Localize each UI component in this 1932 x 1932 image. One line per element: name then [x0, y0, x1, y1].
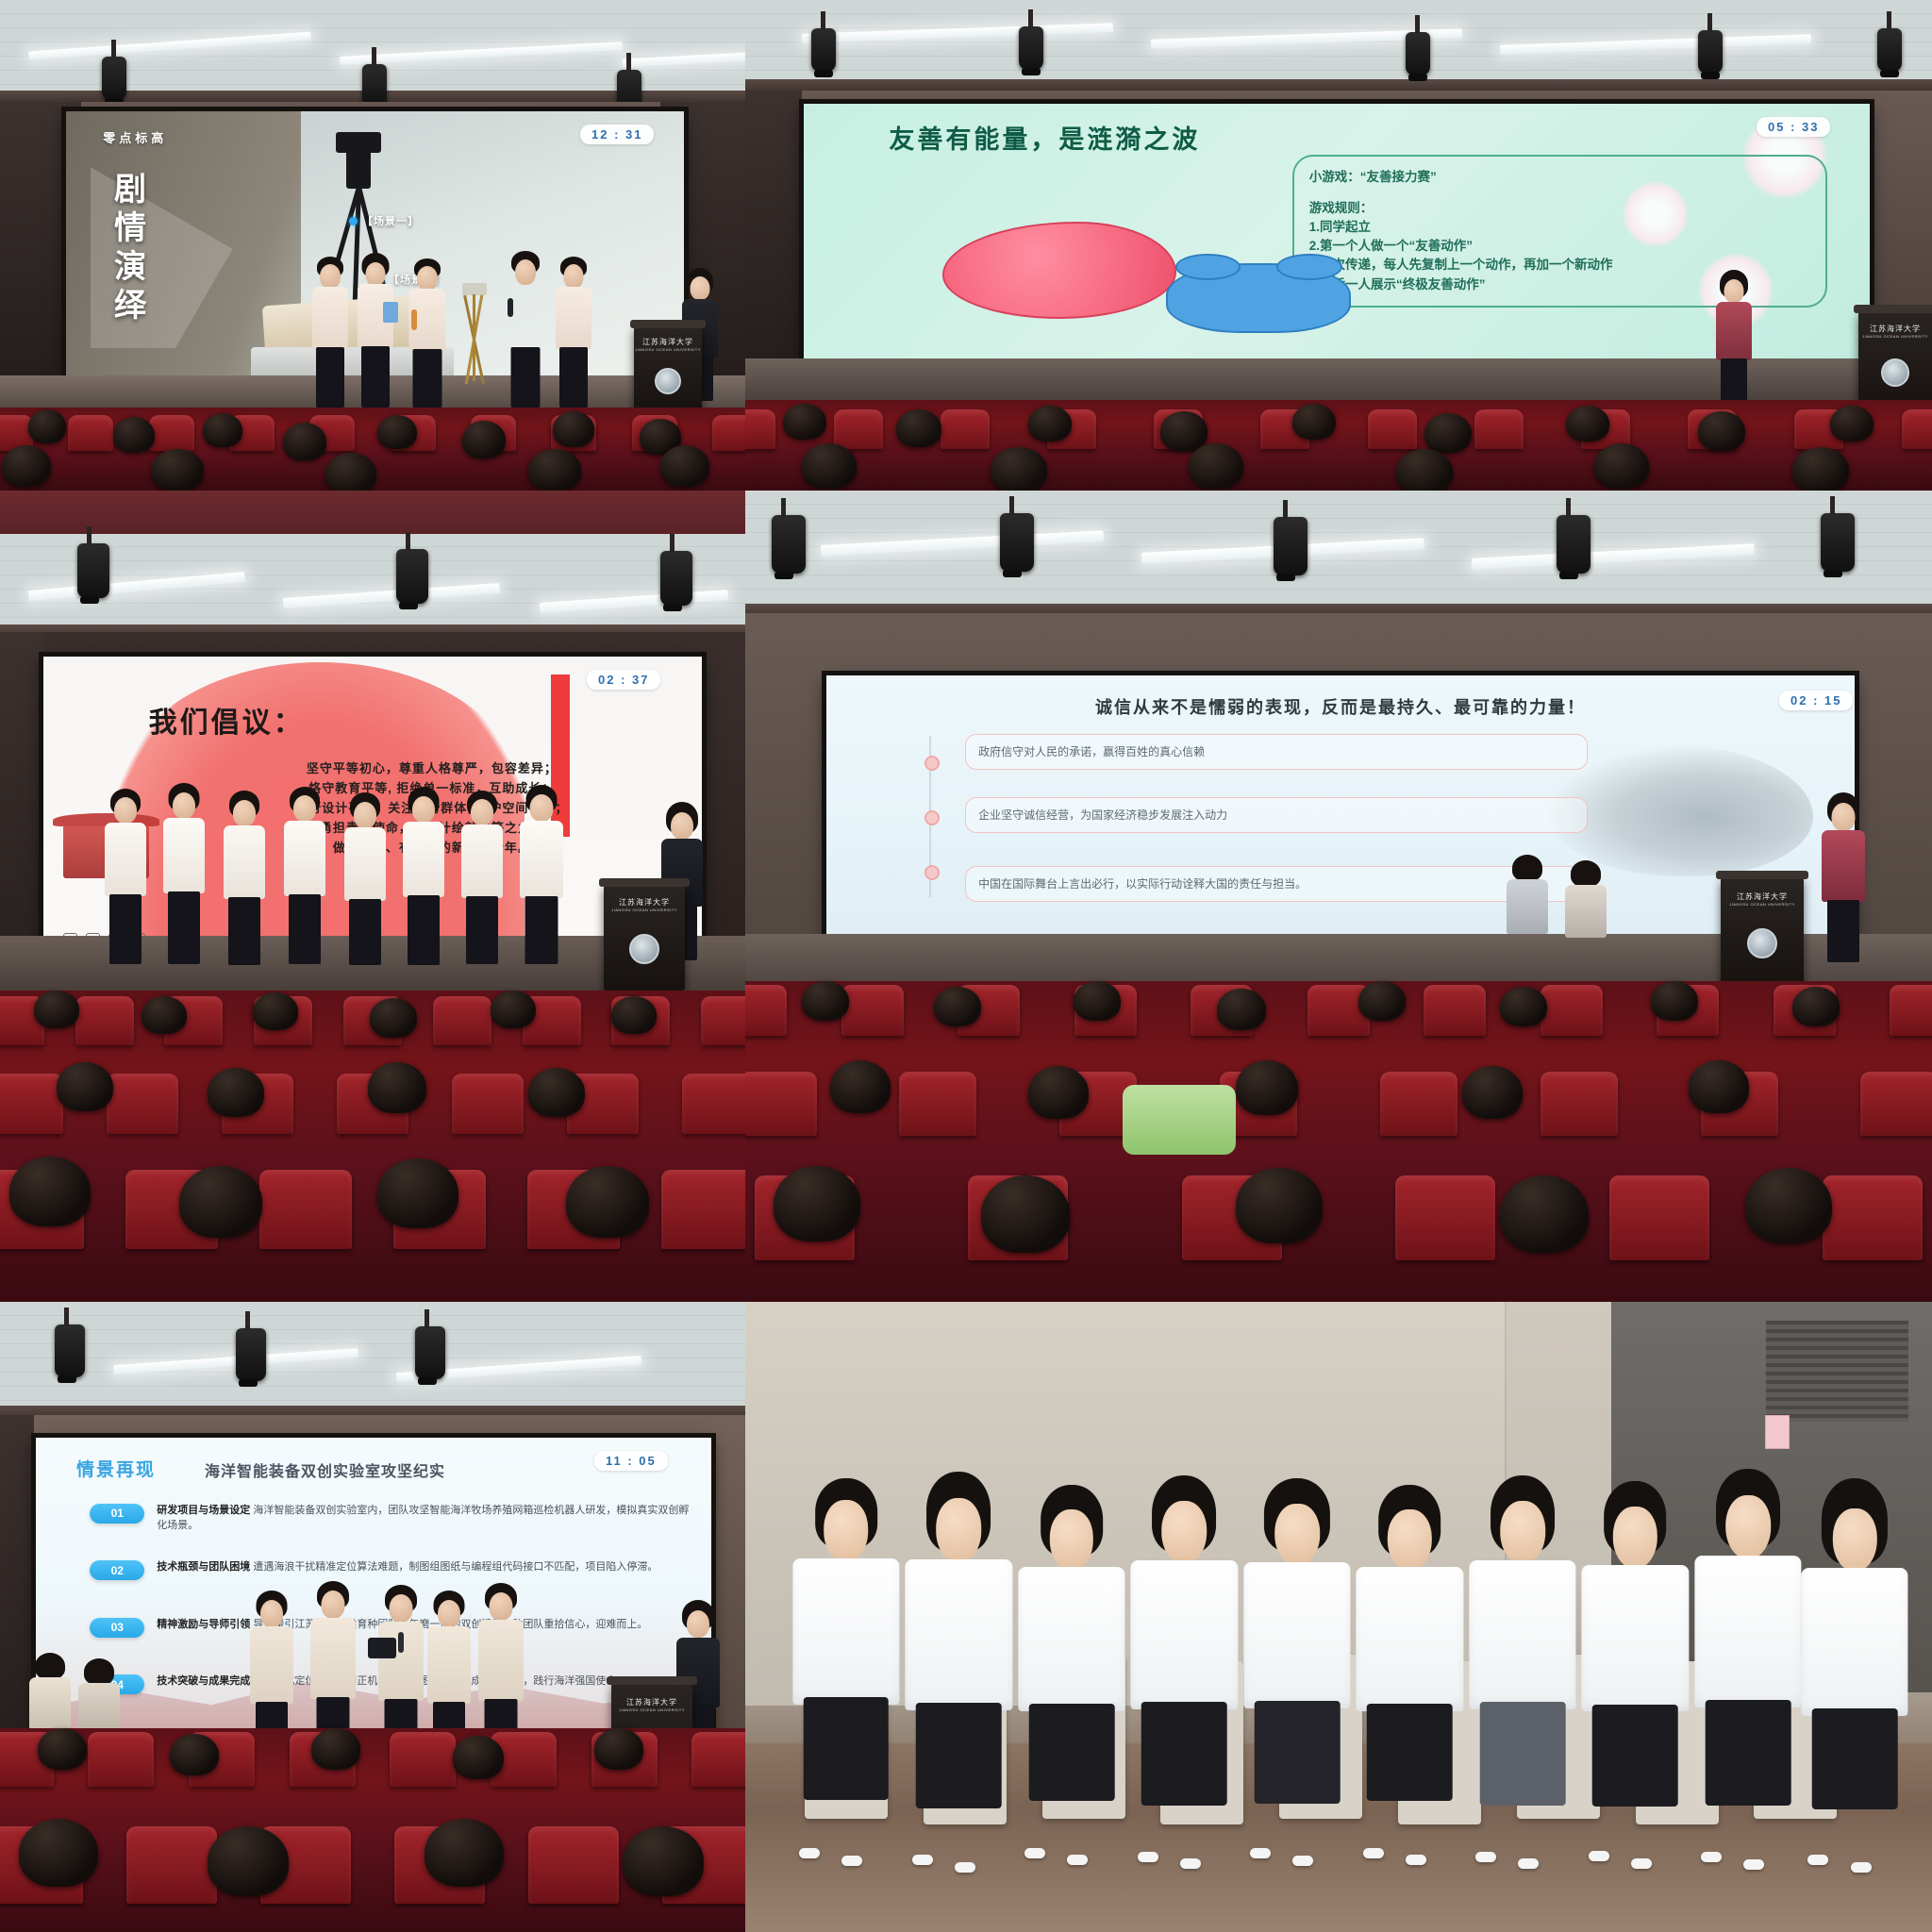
- host-blazer: [1716, 302, 1752, 360]
- contestant-face: [1388, 1509, 1431, 1571]
- audience-head: [934, 987, 981, 1026]
- contestant-shirt: [1802, 1568, 1908, 1717]
- performer-legs: [511, 347, 541, 408]
- contestant-pants: [1367, 1704, 1453, 1801]
- contestant-shirt: [1243, 1562, 1350, 1708]
- audience-head: [253, 992, 298, 1030]
- audience-head: [830, 1060, 891, 1113]
- contestant-pants: [1029, 1704, 1115, 1801]
- stage-spotlight: [1406, 32, 1430, 75]
- audience-head: [2, 445, 51, 487]
- performer-top: [250, 1626, 293, 1704]
- contestant-shirt: [1357, 1567, 1463, 1710]
- performer: [408, 258, 447, 408]
- seated-contestant: [906, 1472, 1012, 1850]
- contestant-pants: [1812, 1708, 1898, 1808]
- item-heading: 精神激励与导师引领: [157, 1619, 250, 1630]
- audience-seat: [126, 1826, 217, 1904]
- audience-seat: [1609, 1175, 1709, 1260]
- integrity-card: 政府信守对人民的承诺，赢得百姓的真心信赖: [965, 734, 1587, 770]
- contestant-shoe: [1363, 1848, 1384, 1858]
- photo-collage: 零点标高 剧情演绎 【场景一】 【场景二】 【场景三】: [0, 0, 1932, 1932]
- wall-sign: [1765, 1415, 1790, 1449]
- performer-top: [427, 1626, 471, 1704]
- audience-head: [896, 409, 941, 447]
- slide-title-main: 海洋智能装备双创实验室攻坚纪实: [205, 1458, 445, 1481]
- performer: [519, 785, 564, 964]
- contestant-shoe: [1589, 1851, 1609, 1861]
- contestant-shirt: [1131, 1560, 1238, 1709]
- audience-seat: [528, 1826, 619, 1904]
- host-presenter: [1715, 270, 1753, 404]
- audience-seat: [107, 1074, 178, 1134]
- slide-title: 我们倡议：: [149, 699, 305, 741]
- scene-item: 02 技术瓶颈与团队困境 遭遇海浪干扰精准定位算法难题，制图组图纸与编程组代码接…: [90, 1560, 691, 1580]
- contestant-face: [1050, 1509, 1093, 1571]
- performer-head: [412, 796, 435, 823]
- proposal-line: 坚守平等初心，尊重人格尊严，包容差异；: [189, 758, 676, 778]
- seated-attendee: [1506, 855, 1549, 979]
- performer-head: [564, 264, 584, 289]
- audience-seat: [899, 1072, 976, 1136]
- podium-top-ledge: [630, 320, 707, 328]
- countdown-timer: 02 : 15: [1779, 691, 1853, 710]
- bear-illustration: [1166, 263, 1351, 334]
- performer-head: [490, 1592, 513, 1621]
- integrity-card: 中国在国际舞台上言出必行，以实际行动诠释大国的责任与担当。: [965, 866, 1587, 902]
- script-folder: [383, 302, 398, 323]
- university-emblem-icon: [629, 934, 659, 964]
- attendee-top: [78, 1683, 120, 1734]
- rule-item: 2.第一个人做一个“友善动作”: [1309, 237, 1810, 256]
- stage-spotlight: [1821, 513, 1855, 572]
- contestant-shoe: [1138, 1852, 1158, 1862]
- performer: [283, 787, 326, 964]
- audience-head: [1792, 447, 1849, 491]
- countdown-timer: 02 : 37: [587, 670, 660, 690]
- performer: [555, 257, 592, 408]
- audience-area: [0, 991, 745, 1302]
- audience-area: [0, 1728, 745, 1932]
- slide-vertical-title: 剧情演绎: [109, 172, 143, 326]
- audience-head: [34, 991, 79, 1028]
- performer-legs: [466, 896, 498, 964]
- podium-top-ledge: [607, 1676, 697, 1685]
- podium: 江苏海洋大学 JIANGSU OCEAN UNIVERSITY: [1721, 877, 1804, 987]
- seated-contestant: [1582, 1481, 1689, 1846]
- audience-head: [611, 996, 657, 1034]
- item-number-badge: 03: [90, 1618, 144, 1638]
- audience-head: [9, 1157, 91, 1226]
- contestant-pants: [1706, 1700, 1791, 1806]
- audience-head: [1292, 404, 1336, 440]
- contestant-shirt: [1582, 1565, 1689, 1711]
- audience-seat: [691, 1732, 745, 1787]
- audience-head: [113, 417, 155, 453]
- contestant-face: [937, 1498, 982, 1562]
- rules-header: 游戏规则：: [1309, 199, 1810, 218]
- performer-shirt: [344, 827, 386, 901]
- contestant-shoe: [1851, 1862, 1872, 1873]
- audience-head: [1500, 987, 1547, 1026]
- panel-seated-contestants: [745, 1302, 1932, 1932]
- audience-head: [370, 998, 417, 1038]
- item-number-badge: 01: [90, 1504, 144, 1524]
- contestant-shirt: [1694, 1556, 1801, 1707]
- performer-legs: [316, 347, 344, 408]
- contestant-shoe: [1475, 1852, 1496, 1862]
- performer-legs: [228, 897, 260, 965]
- audience-seat: [452, 1074, 524, 1134]
- performer: [402, 787, 445, 964]
- seated-contestant: [1243, 1478, 1350, 1843]
- audience-head: [1689, 1060, 1749, 1113]
- podium-university-name: 江苏海洋大学 JIANGSU OCEAN UNIVERSITY: [611, 898, 677, 912]
- audience-head: [1074, 981, 1121, 1021]
- laptop-prop: [368, 1638, 396, 1658]
- stage-spotlight: [772, 515, 806, 574]
- performer: [343, 792, 387, 964]
- item-text: 技术瓶颈与团队困境 遭遇海浪干扰精准定位算法难题，制图组图纸与编程组代码接口不匹…: [157, 1560, 658, 1575]
- performer-shirt: [224, 825, 265, 899]
- audience-head: [1217, 989, 1266, 1030]
- performer-head: [322, 1591, 345, 1619]
- audience-head: [594, 1728, 643, 1770]
- audience-seat: [1541, 1072, 1618, 1136]
- audience-head: [311, 1728, 360, 1770]
- audience-seat: [701, 996, 745, 1045]
- audience-seat: [390, 1732, 456, 1787]
- performer-legs: [413, 349, 442, 408]
- contestant-face: [1162, 1501, 1207, 1564]
- podium-university-name: 江苏海洋大学 JIANGSU OCEAN UNIVERSITY: [1862, 325, 1928, 339]
- contestant-shoe: [1631, 1858, 1652, 1869]
- performer-legs: [168, 891, 200, 964]
- performer-head: [530, 794, 554, 822]
- audience-head: [1189, 443, 1243, 489]
- audience-head: [179, 1166, 262, 1238]
- audience-seat: [745, 1072, 817, 1136]
- audience-seat: [259, 1170, 352, 1249]
- contestant-shoe: [1292, 1856, 1313, 1866]
- slide-badge: 零点标高: [103, 128, 167, 146]
- podium-university-name: 江苏海洋大学 JIANGSU OCEAN UNIVERSITY: [619, 1698, 685, 1712]
- performer-head: [114, 797, 137, 824]
- podium: 江苏海洋大学 JIANGSU OCEAN UNIVERSITY: [634, 326, 702, 413]
- audience-head: [981, 1175, 1070, 1253]
- audience-head: [623, 1826, 704, 1896]
- attendee-hair: [1571, 860, 1601, 887]
- audience-head: [1594, 443, 1649, 489]
- slide-title-accent: 情景再现: [76, 1456, 156, 1481]
- projection-screen: 情景再现 海洋智能装备双创实验室攻坚纪实 01 研发项目与场景设定 海洋智能装备…: [36, 1438, 711, 1738]
- audience-seat: [68, 415, 113, 451]
- audience-head: [28, 409, 66, 443]
- contestant-face: [1613, 1507, 1657, 1569]
- audience-head: [1028, 406, 1072, 441]
- contestant-shoe: [912, 1855, 933, 1865]
- audience-head: [1462, 1066, 1523, 1119]
- contestant-face: [1725, 1495, 1771, 1559]
- performer-head: [320, 264, 341, 289]
- audience-head: [1236, 1168, 1323, 1243]
- microphone: [411, 309, 417, 330]
- performer-head: [366, 262, 386, 286]
- seated-contestant: [1357, 1485, 1463, 1844]
- audience-seat: [745, 985, 787, 1036]
- audience-head: [802, 981, 849, 1021]
- contestant-pants: [804, 1697, 890, 1799]
- tripod-column: [346, 151, 371, 189]
- podium-university-name: 江苏海洋大学 JIANGSU OCEAN UNIVERSITY: [1729, 892, 1795, 907]
- university-emblem-icon: [655, 368, 681, 394]
- audience-seat: [149, 415, 194, 451]
- audience-head: [283, 423, 326, 460]
- performer-head: [173, 792, 195, 819]
- audience-head: [528, 449, 581, 491]
- audience-seat: [941, 409, 990, 449]
- panel-drama-performance: 零点标高 剧情演绎 【场景一】 【场景二】 【场景三】: [0, 0, 745, 491]
- rose-petals: [942, 222, 1177, 319]
- audience-head: [1651, 981, 1698, 1021]
- performer-head: [233, 800, 256, 826]
- contestant-shoe: [1250, 1848, 1271, 1858]
- audience-head: [491, 991, 536, 1028]
- item-heading: 技术瓶颈与团队困境: [157, 1561, 250, 1573]
- performer: [104, 789, 147, 964]
- audience-head: [528, 1068, 585, 1117]
- panel-our-proposal: 我们倡议： 坚守平等初心，尊重人格尊严，包容差异； 恪守教育平等, 拒绝单一标准…: [0, 491, 745, 1302]
- contestant-face: [1500, 1501, 1545, 1564]
- game-label: 小游戏：“友善接力赛”: [1309, 168, 1810, 187]
- audience-seat: [661, 1170, 745, 1249]
- contestant-shoe: [1067, 1855, 1088, 1865]
- performer-head: [471, 799, 493, 825]
- contestant-shirt: [1018, 1567, 1124, 1710]
- performer-head: [390, 1594, 413, 1623]
- audience-seat: [0, 1074, 63, 1134]
- contestant-face: [1833, 1508, 1876, 1572]
- timeline-dot: [924, 810, 940, 825]
- contestant-shoe: [1807, 1855, 1828, 1865]
- audience-seat: [712, 415, 745, 451]
- contestant-shoe: [955, 1862, 975, 1873]
- audience-head: [142, 996, 187, 1034]
- audience-head: [1424, 413, 1472, 453]
- performer: [506, 251, 545, 408]
- projection-screen: 友善有能量，是涟漪之波 小游戏：“友善接力赛” 游戏规则： 1.同学起立 2.第…: [804, 104, 1870, 360]
- audience-head: [151, 449, 204, 491]
- audience-head: [802, 443, 857, 489]
- performer-head: [515, 259, 536, 285]
- audience-head: [1698, 411, 1745, 451]
- contestant-face: [1274, 1504, 1320, 1566]
- audience-head: [325, 453, 376, 491]
- audience-head: [38, 1728, 87, 1770]
- seated-contestant: [1018, 1485, 1124, 1844]
- attendee-hair: [1512, 855, 1542, 881]
- contestant-shoe: [1406, 1855, 1426, 1865]
- host-head: [671, 812, 693, 840]
- performer-legs: [361, 346, 390, 408]
- host-head: [1724, 279, 1744, 303]
- slide-title: 友善有能量，是涟漪之波: [889, 119, 1200, 156]
- green-jacket-attendee: [1123, 1085, 1236, 1155]
- performer-head: [293, 795, 316, 822]
- rose-illustration: [942, 222, 1177, 319]
- audience-head: [170, 1734, 219, 1775]
- audience-seat: [745, 409, 775, 449]
- audience-seat: [1474, 409, 1524, 449]
- podium-top-ledge: [599, 878, 690, 887]
- contestant-shoe: [1743, 1859, 1764, 1870]
- timeline-dot: [924, 865, 940, 880]
- host-blazer: [1822, 830, 1865, 902]
- countdown-timer: 11 : 05: [594, 1451, 668, 1471]
- contestant-shoe: [799, 1848, 820, 1858]
- performer: [162, 783, 206, 964]
- stage-spotlight: [415, 1326, 445, 1379]
- projection-screen: 诚信从来不是懦弱的表现，反而是最持久、最可靠的力量！ 政府信守对人民的承诺，赢得…: [826, 675, 1855, 940]
- podium-top-ledge: [1716, 871, 1809, 879]
- performer-shirt: [403, 822, 444, 897]
- door-louvers: [1766, 1321, 1908, 1422]
- host-presenter: [1821, 792, 1866, 962]
- contestant-shoe: [1024, 1848, 1045, 1858]
- audience-seat: [75, 996, 134, 1045]
- performer-legs: [349, 899, 381, 965]
- audience-area: [745, 981, 1932, 1302]
- performer-head: [260, 1600, 283, 1627]
- audience-seat: [834, 409, 883, 449]
- stage-spotlight: [660, 551, 692, 606]
- audience-head: [1566, 406, 1609, 441]
- panel-integrity-strength: 诚信从来不是懦弱的表现，反而是最持久、最可靠的力量！ 政府信守对人民的承诺，赢得…: [745, 491, 1932, 1302]
- panel-scene-reenactment: 情景再现 海洋智能装备双创实验室攻坚纪实 01 研发项目与场景设定 海洋智能装备…: [0, 1302, 745, 1932]
- audience-head: [208, 1068, 264, 1117]
- audience-seat: [88, 1732, 154, 1787]
- contestant-pants: [1592, 1705, 1678, 1807]
- performer-head: [417, 266, 438, 291]
- performer-top: [310, 1618, 356, 1699]
- stage-spotlight: [1557, 515, 1591, 574]
- stage-spotlight: [1274, 517, 1307, 575]
- performer-shirt: [556, 287, 591, 349]
- audience-head: [208, 1826, 289, 1896]
- microphone: [398, 1632, 404, 1653]
- contestant-shirt: [792, 1558, 899, 1705]
- audience-head: [566, 1166, 649, 1238]
- stage-spotlight: [811, 28, 836, 72]
- survey-level-tripod: [457, 283, 492, 406]
- performer-shirt: [461, 824, 503, 898]
- audience-head: [1792, 987, 1840, 1026]
- audience-head: [57, 1062, 113, 1111]
- integrity-card: 企业坚守诚信经营，为国家经济稳步发展注入动力: [965, 797, 1587, 833]
- performer-top: [478, 1620, 524, 1701]
- performer-legs: [408, 895, 440, 965]
- attendee-hair: [84, 1658, 114, 1685]
- countdown-timer: 12 : 31: [580, 125, 654, 144]
- audience-head: [1500, 1175, 1589, 1253]
- panel-kindness-energy: 友善有能量，是涟漪之波 小游戏：“友善接力赛” 游戏规则： 1.同学起立 2.第…: [745, 0, 1932, 491]
- performer-shirt: [163, 818, 205, 893]
- item-text: 研发项目与场景设定 海洋智能装备双创实验室内，团队攻坚智能海洋牧场养殖网箱巡检机…: [157, 1504, 691, 1534]
- audience-head: [783, 404, 826, 440]
- audience-seat: [1823, 1175, 1923, 1260]
- hotspot-label: 【场景一】: [362, 213, 419, 228]
- audience-head: [453, 1736, 504, 1779]
- scene-hotspot-1[interactable]: 【场景一】: [349, 213, 419, 228]
- audience-head: [553, 411, 594, 447]
- contestant-pants: [1480, 1702, 1566, 1806]
- audience-seat: [1395, 1175, 1495, 1260]
- hotspot-dot-icon: [349, 217, 358, 225]
- performer-legs: [559, 347, 588, 408]
- audience-head: [377, 415, 417, 449]
- contestant-face: [824, 1500, 869, 1562]
- audience-seat: [841, 985, 904, 1036]
- contestant-shoe: [841, 1856, 862, 1866]
- ceiling-red-band: [0, 491, 745, 534]
- audience-area: [0, 408, 745, 491]
- audience-head: [377, 1158, 458, 1228]
- seated-contestant: [1469, 1475, 1575, 1847]
- performer-shirt: [520, 821, 563, 898]
- stage-spotlight: [77, 543, 109, 598]
- attendee-top: [1507, 879, 1548, 934]
- contestant-shoe: [1518, 1858, 1539, 1869]
- audience-seat: [1890, 985, 1932, 1036]
- performer: [223, 791, 266, 964]
- audience-head: [774, 1166, 860, 1241]
- podium-university-name: 江苏海洋大学 JIANGSU OCEAN UNIVERSITY: [635, 338, 701, 352]
- audience-seat: [1902, 409, 1932, 449]
- microphone: [508, 298, 513, 317]
- contestant-pants: [1141, 1702, 1227, 1806]
- item-heading: 技术突破与成果完成: [157, 1675, 250, 1687]
- slide-title: 诚信从来不是懦弱的表现，反而是最持久、最可靠的力量！: [878, 694, 1804, 719]
- stage-spotlight: [1019, 26, 1043, 70]
- attendee-top: [1565, 885, 1607, 938]
- attendee-hair: [35, 1653, 65, 1679]
- audience-seat: [1424, 985, 1486, 1036]
- audience-area: [745, 400, 1932, 491]
- audience-head: [368, 1062, 426, 1113]
- item-heading: 研发项目与场景设定: [157, 1505, 250, 1516]
- host-legs: [1721, 358, 1747, 404]
- contestant-shoe: [1701, 1852, 1722, 1862]
- performer-legs: [109, 894, 142, 964]
- audience-head: [660, 445, 709, 487]
- seated-attendee: [1564, 860, 1607, 979]
- performer-legs: [525, 896, 558, 964]
- performer-head: [354, 802, 376, 828]
- tripod-head: [336, 132, 381, 153]
- timeline-rail: [929, 736, 931, 897]
- audience-head: [1830, 406, 1874, 441]
- stage-spotlight: [55, 1324, 85, 1377]
- performer-shirt: [312, 287, 348, 349]
- performer-shirt: [284, 821, 325, 896]
- podium: 江苏海洋大学 JIANGSU OCEAN UNIVERSITY: [1858, 311, 1932, 411]
- audience-head: [1745, 1168, 1832, 1243]
- performer: [311, 257, 349, 408]
- stage-spotlight: [102, 57, 126, 100]
- rule-item: 1.同学起立: [1309, 218, 1810, 237]
- mountain-graphic: [36, 1659, 711, 1738]
- audience-head: [1358, 981, 1406, 1021]
